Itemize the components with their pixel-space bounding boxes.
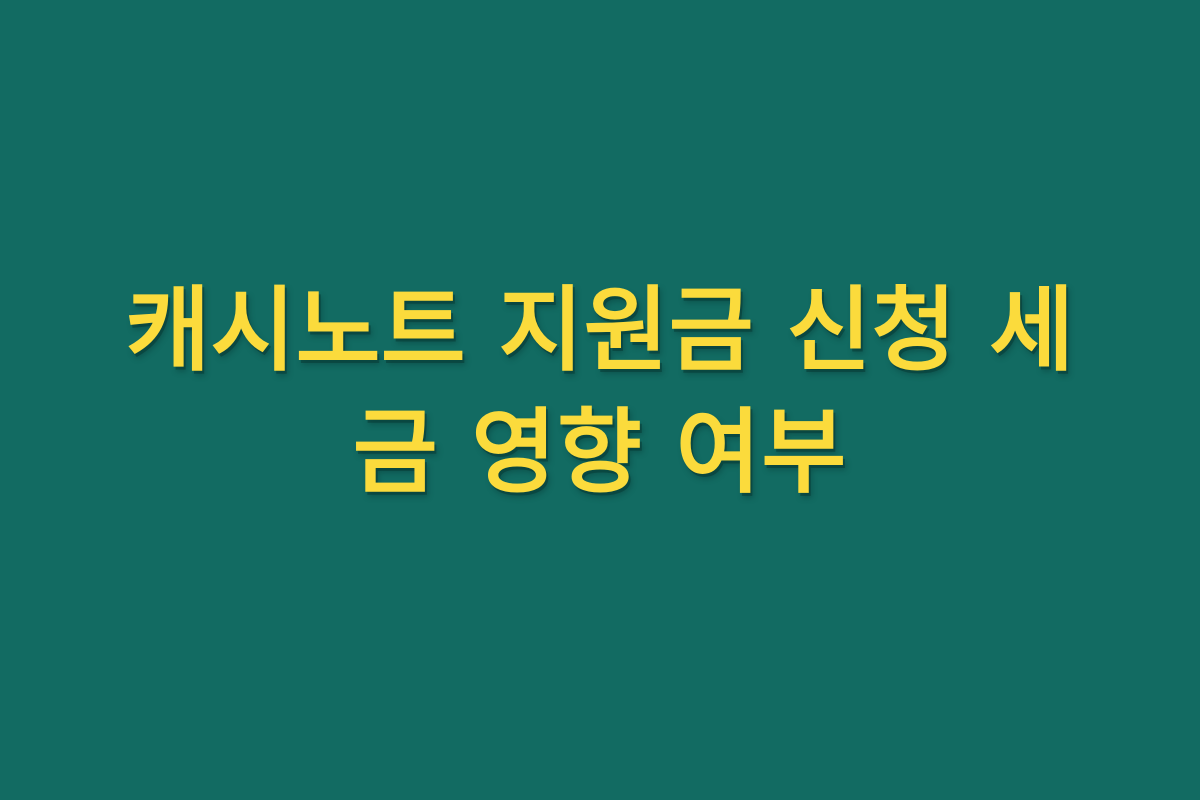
page-title: 캐시노트 지원금 신청 세 금 영향 여부 (70, 270, 1130, 515)
title-line-2: 금 영향 여부 (86, 392, 1114, 514)
thumbnail-card: 캐시노트 지원금 신청 세 금 영향 여부 (0, 0, 1200, 800)
title-line-1: 캐시노트 지원금 신청 세 (86, 270, 1114, 392)
